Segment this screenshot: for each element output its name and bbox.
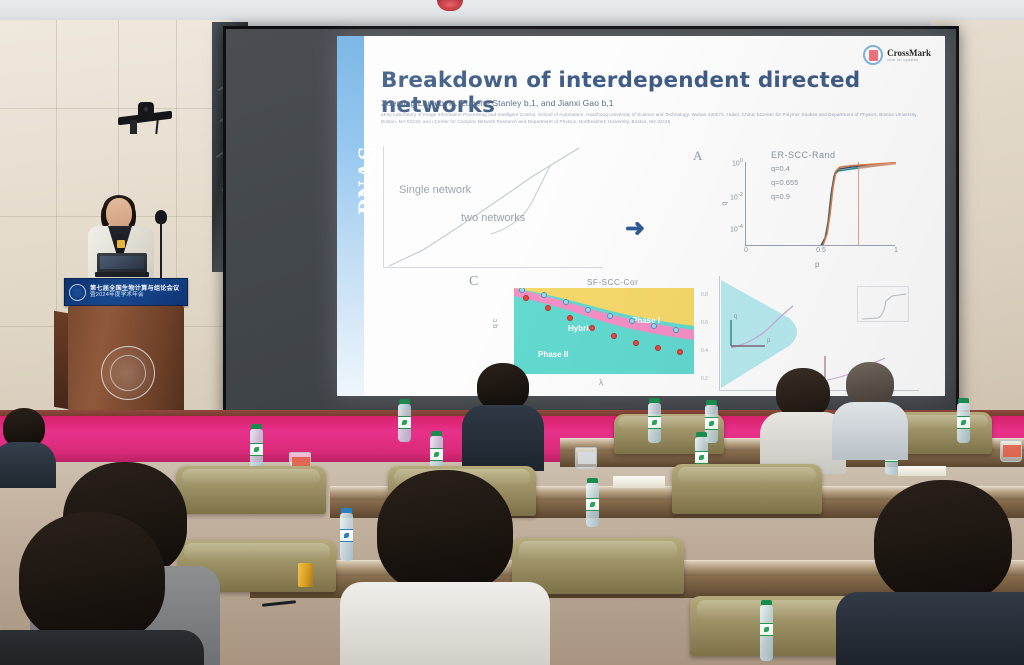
slide-authors: Xueming Liu a,b, H. Eugene Stanley b,1, … — [381, 98, 901, 108]
banner-line-2: 暨2024年度学术年会 — [90, 292, 179, 299]
crossmark-sublabel: click for updates — [887, 58, 931, 62]
projected-slide: PNAS CrossMark click for updates Breakdo… — [337, 36, 945, 396]
slide-title: Breakdown of interdependent directed net… — [381, 68, 911, 118]
crossmark-logo: CrossMark click for updates — [863, 45, 931, 65]
water-bottle — [648, 398, 661, 443]
university-emblem — [101, 346, 155, 400]
paper-stack — [613, 476, 665, 488]
panel-d-axis-p: p — [767, 338, 770, 344]
sketch-label-single: Single network — [399, 184, 471, 196]
panel-c-plot-area: Phase I Hybrid Phase II 1 — [514, 288, 694, 374]
panel-a-label: A — [693, 148, 702, 164]
conference-seal-icon — [69, 284, 86, 301]
wall-camera-icon — [112, 100, 174, 134]
panel-a-ytick-2: 10-4 — [730, 224, 746, 233]
pnas-sidebar: PNAS — [337, 36, 364, 396]
slide-affiliations: aKey Laboratory of Image Information Pro… — [381, 112, 926, 126]
pnas-logo-text: PNAS — [354, 120, 382, 240]
panel-c-region-phase2: Phase II — [538, 350, 568, 359]
paper-stack — [898, 466, 946, 476]
presenter-laptop — [97, 253, 147, 277]
panel-a-xlabel: p — [815, 260, 819, 269]
panel-d-axis-q: q — [734, 314, 737, 320]
crossmark-icon — [863, 45, 883, 65]
water-bottle — [250, 424, 263, 469]
panel-a-plot-area: 100 10-2 10-4 0 0.5 1 — [745, 162, 895, 246]
audience-person — [836, 480, 1024, 665]
chart-panel-a: A ER-SCC-Rand 100 10-2 10-4 0 0.5 1 q p … — [693, 148, 923, 273]
panel-a-ylabel: q — [721, 202, 728, 206]
water-bottle — [957, 398, 970, 443]
panel-a-ytick-0: 100 — [732, 158, 746, 167]
panel-a-legend-0: q=0.4 — [771, 164, 790, 173]
audience-person — [340, 470, 550, 665]
crossmark-label: CrossMark — [887, 49, 931, 58]
panel-c-xlabel: λ — [599, 378, 603, 387]
panel-a-xtick-0: 0 — [744, 245, 748, 254]
badge — [117, 240, 125, 248]
panel-a-legend-2: q=0.9 — [771, 192, 790, 201]
panel-a-legend-1: q=0.655 — [771, 178, 798, 187]
paper-cup — [1000, 440, 1022, 462]
panel-c-ylabel: q c — [492, 319, 499, 328]
panel-d-inset-1 — [857, 286, 909, 322]
paper-cup — [575, 447, 597, 469]
panel-c-title: SF-SCC-Cor — [587, 278, 638, 287]
panel-a-xtick-1: 0.5 — [816, 245, 826, 254]
panel-c-label: C — [469, 274, 478, 290]
water-bottle — [586, 478, 599, 527]
beverage-can — [298, 563, 313, 587]
conference-banner: 第七届全国生物计算与组论会议 暨2024年度学术年会 — [64, 278, 188, 306]
water-bottle — [760, 600, 773, 661]
panel-a-title: ER-SCC-Rand — [771, 150, 836, 160]
water-bottle — [398, 399, 411, 442]
audience-person — [462, 363, 544, 471]
audience-person — [832, 362, 908, 460]
panel-a-ytick-1: 10-2 — [730, 192, 746, 201]
panel-a-xtick-2: 1 — [894, 245, 898, 254]
network-sketch: Single network two networks — [383, 146, 603, 268]
podium: 第七届全国生物计算与组论会议 暨2024年度学术年会 — [64, 278, 188, 418]
conference-photo: PNAS CrossMark click for updates Breakdo… — [0, 0, 1024, 665]
right-arrow-icon: ➜ — [625, 214, 645, 243]
auditorium-chair — [672, 464, 822, 514]
audience-person — [0, 512, 204, 665]
sketch-label-two: two networks — [461, 212, 525, 224]
